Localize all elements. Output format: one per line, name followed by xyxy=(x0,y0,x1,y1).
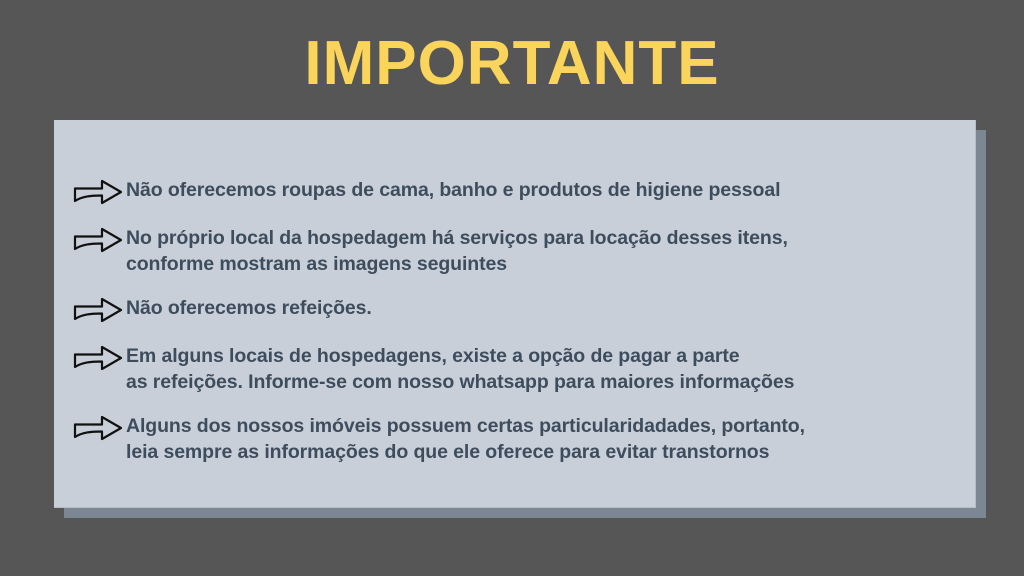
list-item: Em alguns locais de hospedagens, existe … xyxy=(72,342,976,395)
list-item-label: Não oferecemos refeições. xyxy=(126,294,976,321)
right-block-arrow-icon xyxy=(72,295,124,325)
list-item: No próprio local da hospedagem há serviç… xyxy=(72,224,976,277)
content-card: Não oferecemos roupas de cama, banho e p… xyxy=(54,120,986,518)
list-item-label: Alguns dos nossos imóveis possuem certas… xyxy=(126,412,976,465)
list-item: Não oferecemos roupas de cama, banho e p… xyxy=(72,176,976,207)
list-item: Não oferecemos refeições. xyxy=(72,294,976,325)
slide-root: IMPORTANTE Não oferecemos roupas de cama… xyxy=(0,0,1024,576)
list-item-label: Em alguns locais de hospedagens, existe … xyxy=(126,342,976,395)
page-title: IMPORTANTE xyxy=(0,28,1024,100)
bullet-list: Não oferecemos roupas de cama, banho e p… xyxy=(72,176,976,465)
right-block-arrow-icon xyxy=(72,177,124,207)
list-item-label: No próprio local da hospedagem há serviç… xyxy=(126,224,976,277)
card-surface: Não oferecemos roupas de cama, banho e p… xyxy=(54,120,976,508)
right-block-arrow-icon xyxy=(72,343,124,373)
list-item-label: Não oferecemos roupas de cama, banho e p… xyxy=(126,176,976,203)
right-block-arrow-icon xyxy=(72,225,124,255)
list-item: Alguns dos nossos imóveis possuem certas… xyxy=(72,412,976,465)
right-block-arrow-icon xyxy=(72,413,124,443)
